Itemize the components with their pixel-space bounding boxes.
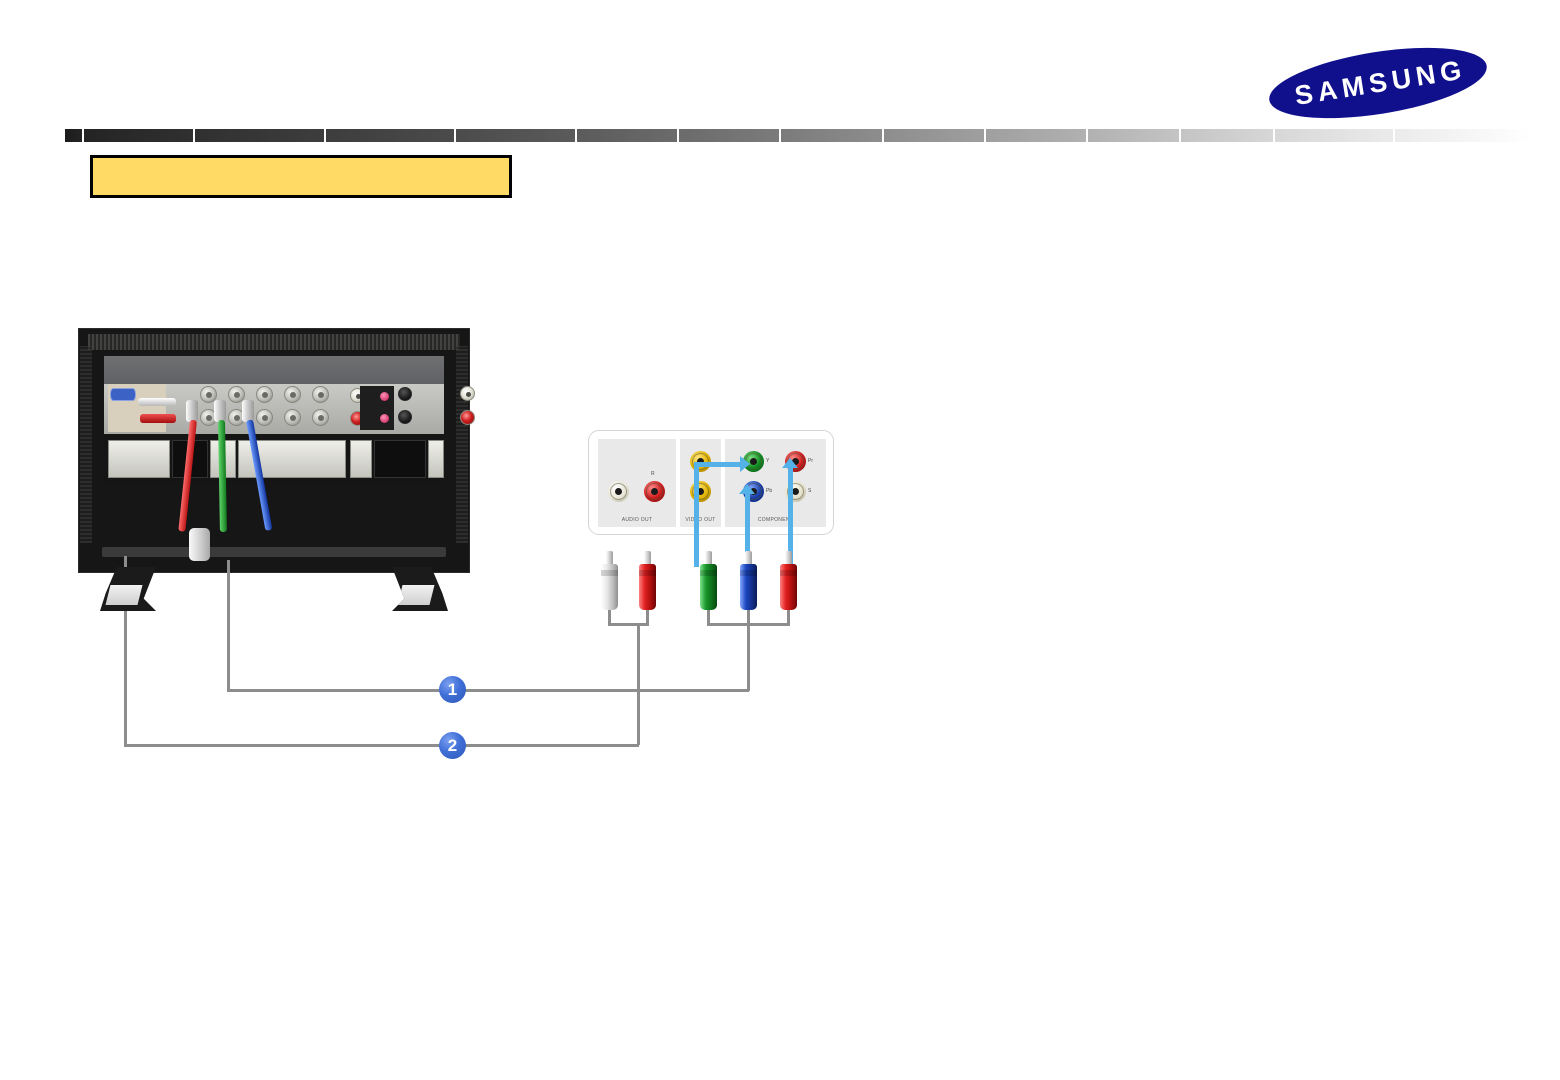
tv-bnc-jack [284,409,301,426]
tv-red-audio-plug [140,414,176,423]
plug-body [700,564,717,610]
video-out-group: VIDEO OUT [680,439,721,527]
video-out-group-label: VIDEO OUT [680,517,721,523]
tv-lower-module [350,440,372,478]
tv-speaker-terminals [360,386,394,430]
speaker-terminal [380,414,389,423]
cable-barrel [242,400,254,422]
tv-white-audio-plug [138,398,176,406]
y-arrow-vertical [694,462,699,567]
component-wire-stem [747,623,750,691]
plug-collar [700,570,717,576]
step-2-connector-line [124,744,639,747]
plug-body [780,564,797,610]
tv-stand-foot-left [100,567,156,611]
tv-bnc-jack [312,409,329,426]
component-group-label: COMPONENT [725,517,826,523]
tv-bnc-jack [284,386,301,403]
speaker-terminal [380,392,389,401]
plug-tip [745,551,752,564]
tv-left-vent [80,346,92,543]
audio-out-left-jack [608,481,629,502]
tv-bnc-jack [256,409,273,426]
foot-pad [398,585,435,605]
plug-collar [740,570,757,576]
step-1-connector-line [227,689,749,692]
plug-body [601,564,618,610]
tv-rca-jack [460,386,475,401]
connection-diagram: R AUDIO OUT VIDEO OUT Y Pb Pr S COMPONEN… [0,0,1560,1080]
step-badge-1: 1 [439,676,466,703]
plug-tip [705,551,712,564]
step-badge-2: 2 [439,732,466,759]
tv-bnc-jack [256,386,273,403]
plug-collar [639,570,656,576]
plug-body [639,564,656,610]
tv-black-jack [398,387,412,401]
tv-lower-module [108,440,170,478]
cable-barrel [186,400,198,422]
plug-tip [644,551,651,564]
y-arrow-head [740,456,750,472]
vga-port [110,388,136,401]
plug-collar [601,570,618,576]
tv-component-wire-down [227,560,230,690]
tv-lower-module [428,440,444,478]
component-pb-label: Pb [766,488,772,494]
pb-arrow-head [739,484,755,494]
plug-tip [606,551,613,564]
plug-collar [780,570,797,576]
audio-out-right-jack [644,481,665,502]
audio-plug-white [601,551,618,610]
component-plug-green [700,551,717,610]
pr-arrow-head [782,458,798,468]
tv-stand-foot-right [392,567,448,611]
cable-ferrite-core [189,528,210,561]
tv-black-jack [398,410,412,424]
component-y-label: Y [766,458,769,464]
tv-bnc-jack [312,386,329,403]
source-device-output-panel: R AUDIO OUT VIDEO OUT Y Pb Pr S COMPONEN… [588,430,834,535]
audio-wire-merge [608,623,649,626]
tv-top-vent [88,334,460,350]
component-plug-red [780,551,797,610]
component-group: Y Pb Pr S COMPONENT [725,439,826,527]
tv-right-vent [456,346,468,543]
tv-base-bar [102,547,446,557]
tv-lower-module [374,440,426,478]
audio-plug-red [639,551,656,610]
tv-rca-jack-red [460,410,475,425]
audio-right-label: R [651,471,655,477]
foot-pad [106,585,143,605]
tv-rear-photo [78,328,470,573]
cable-barrel [214,400,226,422]
plug-body [740,564,757,610]
audio-out-group: R AUDIO OUT [598,439,676,527]
audio-out-group-label: AUDIO OUT [598,517,676,523]
component-aux-label: S [808,488,811,494]
y-arrow-horizontal [694,462,746,467]
plug-tip [785,551,792,564]
audio-wire-stem [637,623,640,745]
component-pr-label: Pr [808,458,813,464]
component-plug-blue [740,551,757,610]
